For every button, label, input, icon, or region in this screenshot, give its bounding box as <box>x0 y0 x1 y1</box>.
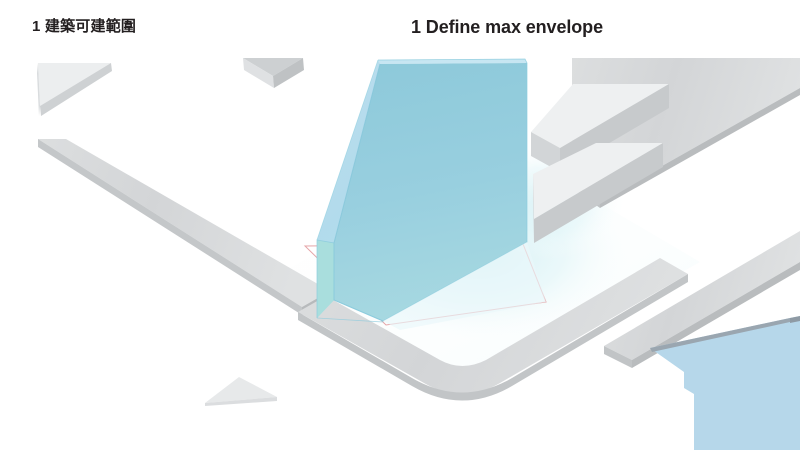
title-english: 1 Define max envelope <box>411 16 603 38</box>
isometric-scene <box>0 0 800 450</box>
context-building-top-left <box>37 63 112 116</box>
road-diagonal-left <box>38 139 330 315</box>
title-chinese: 1 建築可建範圍 <box>32 17 136 37</box>
context-triangle-bottom <box>205 377 277 406</box>
context-chevron <box>243 58 304 88</box>
diagram-canvas: 1 建築可建範圍 1 Define max envelope <box>0 0 800 450</box>
